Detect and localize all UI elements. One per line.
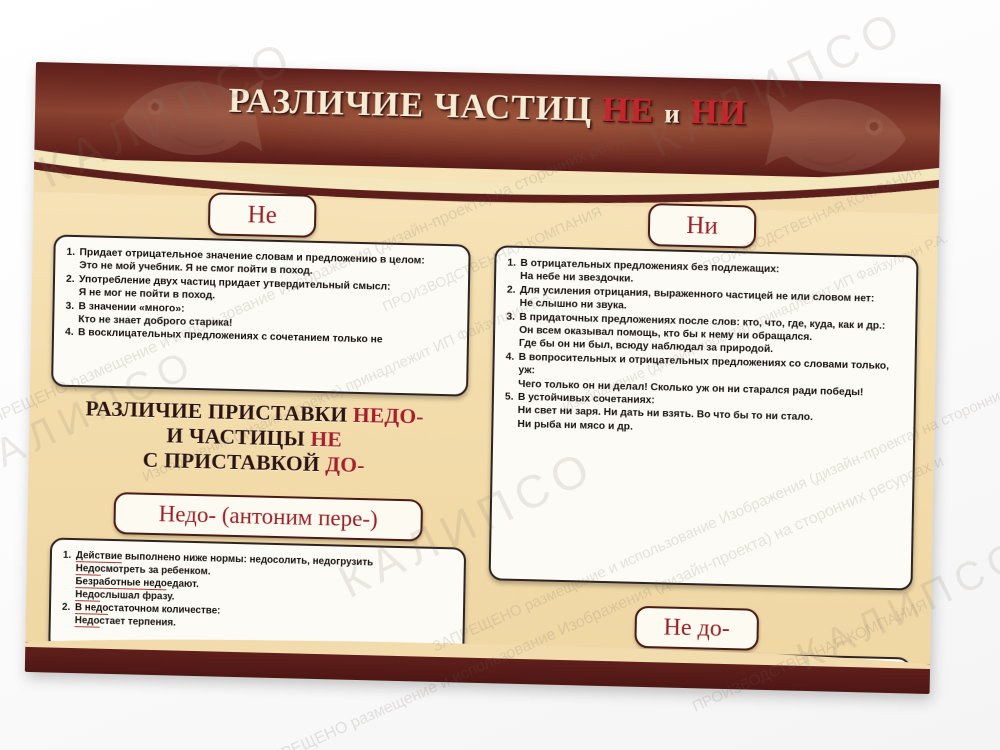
middle-heading: РАЗЛИЧИЕ ПРИСТАВКИ НЕДО- И ЧАСТИЦЫ НЕ С …: [39, 395, 470, 480]
label-ni-text: Ни: [686, 211, 718, 240]
information-board: РАЗЛИЧИЕ ЧАСТИЦ НЕ и НИ: [25, 62, 941, 694]
page-title: РАЗЛИЧИЕ ЧАСТИЦ НЕ и НИ: [35, 76, 940, 138]
board-body: Не Ни 1. Придает отрицательное значение …: [25, 158, 939, 694]
label-ne-do-text: Не до-: [663, 614, 730, 643]
title-ne: НЕ: [602, 90, 655, 130]
card-ne: 1. Придает отрицательное значение словам…: [51, 234, 471, 396]
label-ne-text: Не: [247, 201, 277, 230]
title-ni: НИ: [690, 92, 747, 132]
label-nedo: Недо- (антоним пере-): [113, 492, 423, 542]
label-ne-do: Не до-: [634, 606, 759, 651]
title-conjunction: и: [664, 98, 681, 128]
label-ne: Не: [208, 192, 317, 238]
photo-canvas: РАЗЛИЧИЕ ЧАСТИЦ НЕ и НИ: [0, 0, 1000, 750]
card-ni: 1. В отрицательных предложениях без подл…: [489, 245, 919, 590]
title-main: РАЗЛИЧИЕ ЧАСТИЦ: [228, 81, 592, 129]
label-nedo-text: Недо- (антоним пере-): [158, 501, 377, 532]
label-ni: Ни: [648, 203, 757, 249]
